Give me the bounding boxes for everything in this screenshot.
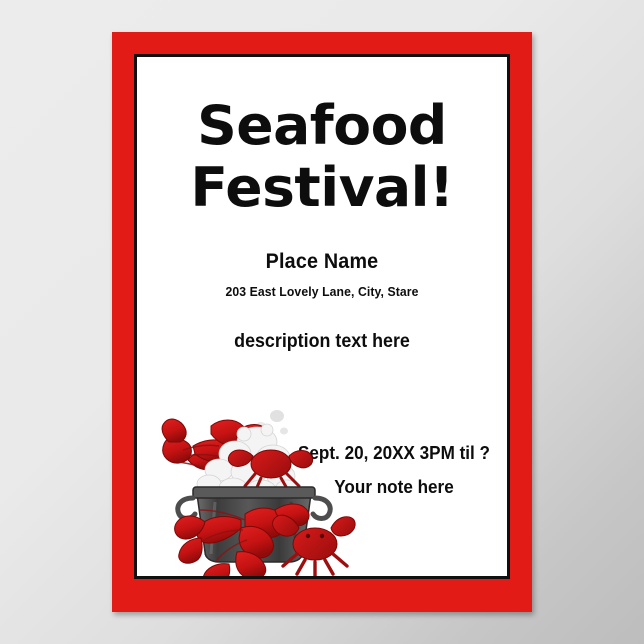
title-line-2: Festival! <box>137 157 507 219</box>
place-name: Place Name <box>148 250 496 274</box>
address-line: 203 East Lovely Lane, City, Stare <box>148 284 496 299</box>
description-text: description text here <box>148 331 496 353</box>
title-line-1: Seafood <box>137 95 507 157</box>
seafood-boil-icon <box>149 402 359 576</box>
poster-inner-border: Seafood Festival! Place Name 203 East Lo… <box>134 54 510 579</box>
poster-scene: Seafood Festival! Place Name 203 East Lo… <box>0 0 644 644</box>
poster-page: Seafood Festival! Place Name 203 East Lo… <box>137 57 507 576</box>
poster-title: Seafood Festival! <box>137 95 507 218</box>
poster-frame: Seafood Festival! Place Name 203 East Lo… <box>112 32 532 612</box>
